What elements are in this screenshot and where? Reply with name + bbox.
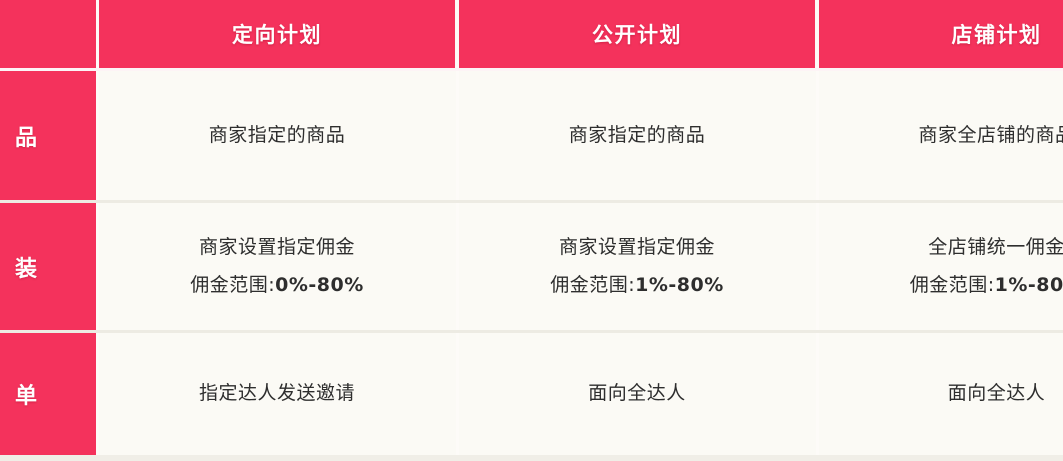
cell-goods-public-line1: 商家指定的商品 <box>569 117 706 154</box>
cell-goods-targeted-line1: 商家指定的商品 <box>209 117 346 154</box>
cell-commission-store-line2: 佣金范围:1%-80% <box>910 267 1063 304</box>
cell-goods-targeted: 商家指定的商品 <box>99 71 455 200</box>
column-header-targeted: 定向计划 <box>99 0 455 68</box>
cell-goods-store-line1: 商家全店铺的商品 <box>918 117 1063 154</box>
cell-commission-targeted: 商家设置指定佣金 佣金范围:0%-80% <box>99 203 455 330</box>
cell-commission-targeted-line1: 商家设置指定佣金 <box>199 229 355 266</box>
row-label-commission: 装 <box>0 203 96 330</box>
table-bottom-edge <box>0 455 1063 461</box>
column-header-store-label: 店铺计划 <box>952 19 1042 49</box>
row-label-goods-text: 品 <box>15 120 38 152</box>
column-header-public-label: 公开计划 <box>592 19 682 49</box>
row-label-goods: 品 <box>0 71 96 200</box>
cell-goods-public: 商家指定的商品 <box>459 71 815 200</box>
column-header-store: 店铺计划 <box>819 0 1063 68</box>
column-header-targeted-label: 定向计划 <box>232 19 322 49</box>
cell-commission-targeted-line2: 佣金范围:0%-80% <box>190 267 364 304</box>
cell-order-targeted: 指定达人发送邀请 <box>99 333 455 455</box>
cell-order-targeted-line1: 指定达人发送邀请 <box>199 375 355 412</box>
commission-range-value-targeted: 0%-80% <box>275 274 364 296</box>
gridline-row-separator-2 <box>0 330 1063 333</box>
commission-range-value-store: 1%-80% <box>995 274 1063 296</box>
cell-commission-store: 全店铺统一佣金 佣金范围:1%-80% <box>819 203 1063 330</box>
cell-commission-public-line1: 商家设置指定佣金 <box>559 229 715 266</box>
cell-goods-store: 商家全店铺的商品 <box>819 71 1063 200</box>
cell-order-public: 面向全达人 <box>459 333 815 455</box>
commission-range-value-public: 1%-80% <box>635 274 724 296</box>
cell-commission-public-line2: 佣金范围:1%-80% <box>550 267 724 304</box>
gridline-row-separator-1 <box>0 200 1063 203</box>
commission-range-prefix-targeted: 佣金范围: <box>190 274 275 296</box>
cell-order-public-line1: 面向全达人 <box>588 375 686 412</box>
row-label-order-text: 单 <box>15 378 38 410</box>
gridline-header-separator <box>0 68 1063 71</box>
comparison-table: 定向计划 公开计划 店铺计划 品 商家指定的商品 商家指定的商品 商家全店铺的商… <box>0 0 1063 461</box>
row-label-order: 单 <box>0 333 96 455</box>
table-corner-cell <box>0 0 96 68</box>
commission-range-prefix-store: 佣金范围: <box>910 274 995 296</box>
commission-range-prefix-public: 佣金范围: <box>550 274 635 296</box>
column-header-public: 公开计划 <box>459 0 815 68</box>
cell-order-store: 面向全达人 <box>819 333 1063 455</box>
cell-commission-public: 商家设置指定佣金 佣金范围:1%-80% <box>459 203 815 330</box>
cell-commission-store-line1: 全店铺统一佣金 <box>928 229 1063 266</box>
row-label-commission-text: 装 <box>15 251 38 283</box>
cell-order-store-line1: 面向全达人 <box>948 375 1046 412</box>
